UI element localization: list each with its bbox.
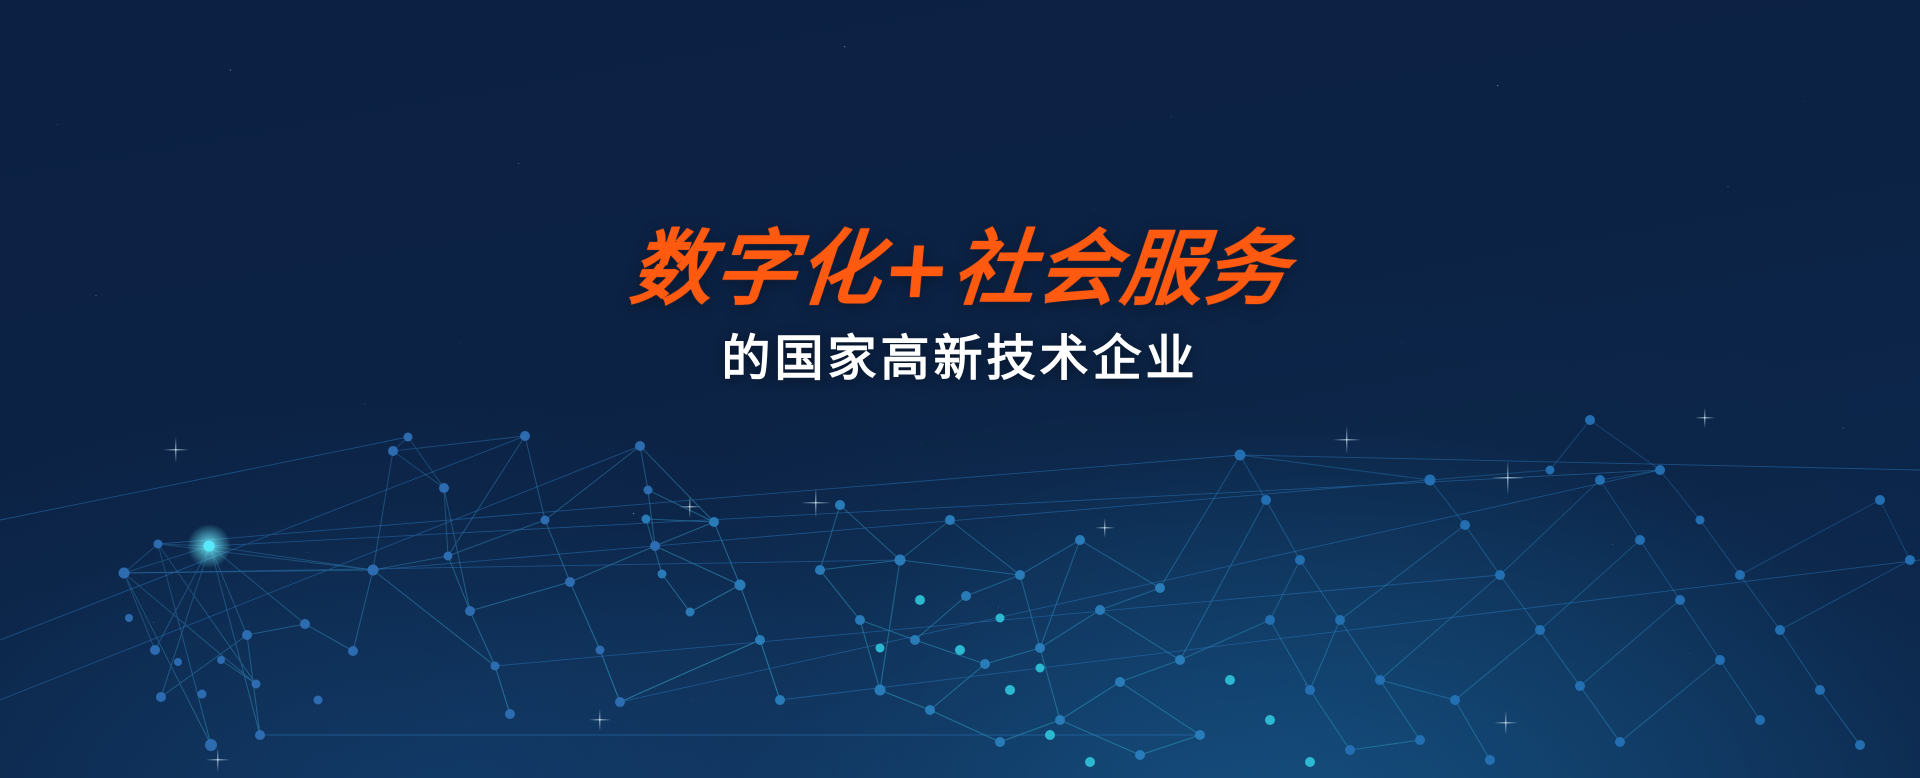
sparkle-icon <box>801 488 831 518</box>
banner-text-block: 数字化+社会服务 的国家高新技术企业 <box>0 228 1920 386</box>
sparkle-icon <box>1494 711 1518 735</box>
sparkle-icon <box>206 748 230 772</box>
sparkle-icon <box>1095 518 1115 538</box>
starfield-layer-primary <box>0 0 1920 778</box>
sparkle-icon <box>163 437 189 463</box>
sparkle-icon <box>1333 426 1361 454</box>
starfield-layer-secondary <box>0 0 1920 778</box>
banner-subtitle: 的国家高新技术企业 <box>0 330 1920 386</box>
sparkle-icon <box>679 496 701 518</box>
sparkle-icon <box>1695 408 1715 428</box>
sparkle-icon <box>589 709 611 731</box>
network-mesh-graphic <box>0 0 1920 778</box>
hero-banner: 数字化+社会服务 的国家高新技术企业 <box>0 0 1920 778</box>
banner-headline: 数字化+社会服务 <box>0 228 1920 312</box>
sparkle-icon <box>1491 461 1525 495</box>
